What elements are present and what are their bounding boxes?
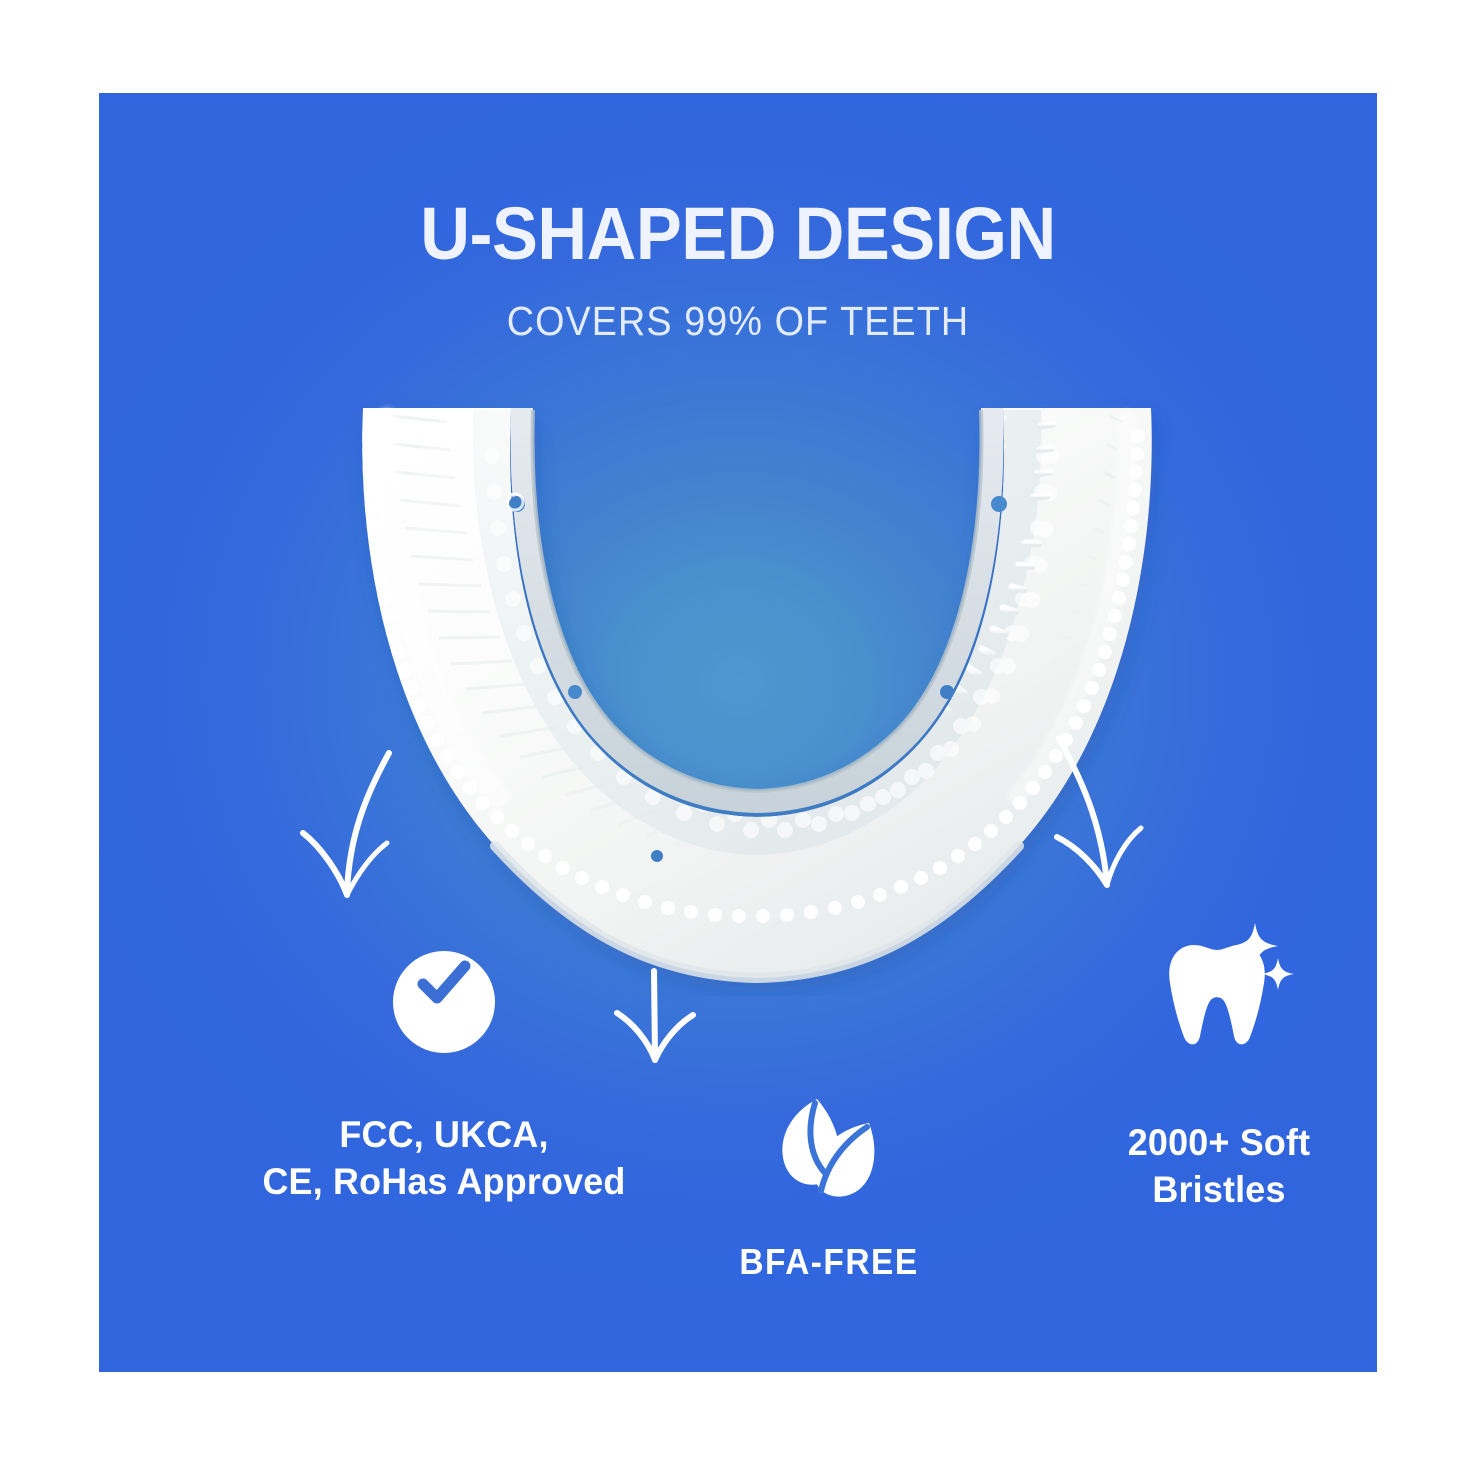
tooth-sparkle-icon <box>1144 913 1294 1063</box>
product-image-u-shaped-toothbrush <box>327 396 1187 996</box>
page-canvas: U-SHAPED DESIGN COVERS 99% OF TEETH <box>0 0 1476 1474</box>
check-mark-icon <box>413 951 475 1013</box>
page-subtitle: COVERS 99% OF TEETH <box>150 301 1326 342</box>
feature-bristles-label: 2000+ Soft Bristles <box>996 1119 1377 1214</box>
header-block: U-SHAPED DESIGN COVERS 99% OF TEETH <box>99 197 1377 342</box>
page-title: U-SHAPED DESIGN <box>144 197 1333 271</box>
sparkle-small-icon <box>1262 958 1294 990</box>
infographic-panel: U-SHAPED DESIGN COVERS 99% OF TEETH <box>99 93 1377 1372</box>
leaves-icon <box>771 1093 887 1205</box>
feature-bfa-label: BFA-FREE <box>615 1239 1043 1285</box>
check-circle-icon <box>393 951 495 1053</box>
feature-bristles: 2000+ Soft Bristles <box>989 913 1377 1214</box>
